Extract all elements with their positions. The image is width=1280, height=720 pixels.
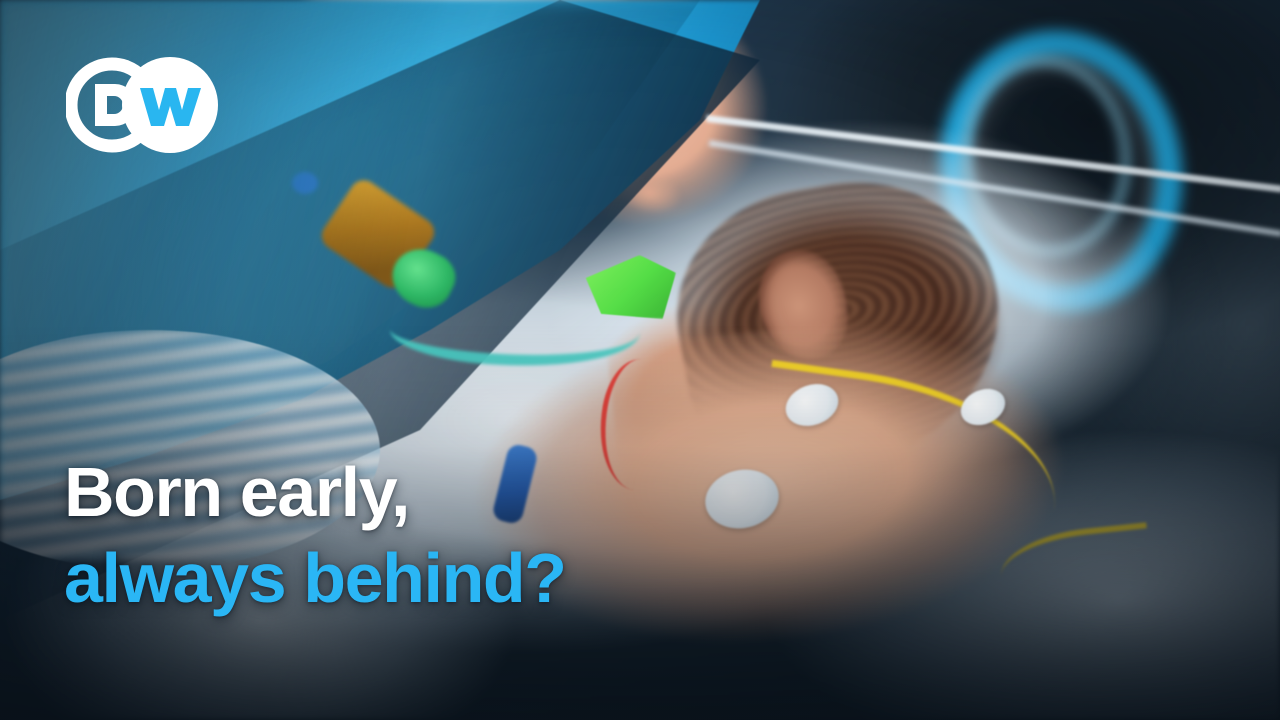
video-thumbnail: Born early, always behind? [0,0,1280,720]
cyan-incubator-port-ring [922,15,1201,328]
blue-speck [292,172,318,194]
yellow-lead-wire-secondary [997,522,1153,603]
caption-block: Born early, always behind? [64,455,824,615]
caregiver-fingers [506,83,713,267]
white-tubing-secondary [698,140,1280,306]
cyan-incubator-port-ring-inner [949,45,1143,266]
ecg-electrode [780,377,844,433]
gold-luer-connector [316,175,439,293]
caption-line-two: always behind? [64,541,824,615]
newborn-ear [750,242,857,367]
teal-feeding-tube [388,286,642,374]
white-tubing [697,115,1280,262]
caregiver-hand [431,0,839,289]
caption-line-one: Born early, [64,455,824,529]
green-tube-fitting [383,239,463,317]
caregiver-sleeve [300,0,630,120]
ecg-electrode [955,382,1011,432]
green-cheek-tape [580,255,676,319]
dw-logo-letter-d [95,84,136,126]
newborn-hair [658,159,1022,490]
dw-logo [66,57,218,153]
